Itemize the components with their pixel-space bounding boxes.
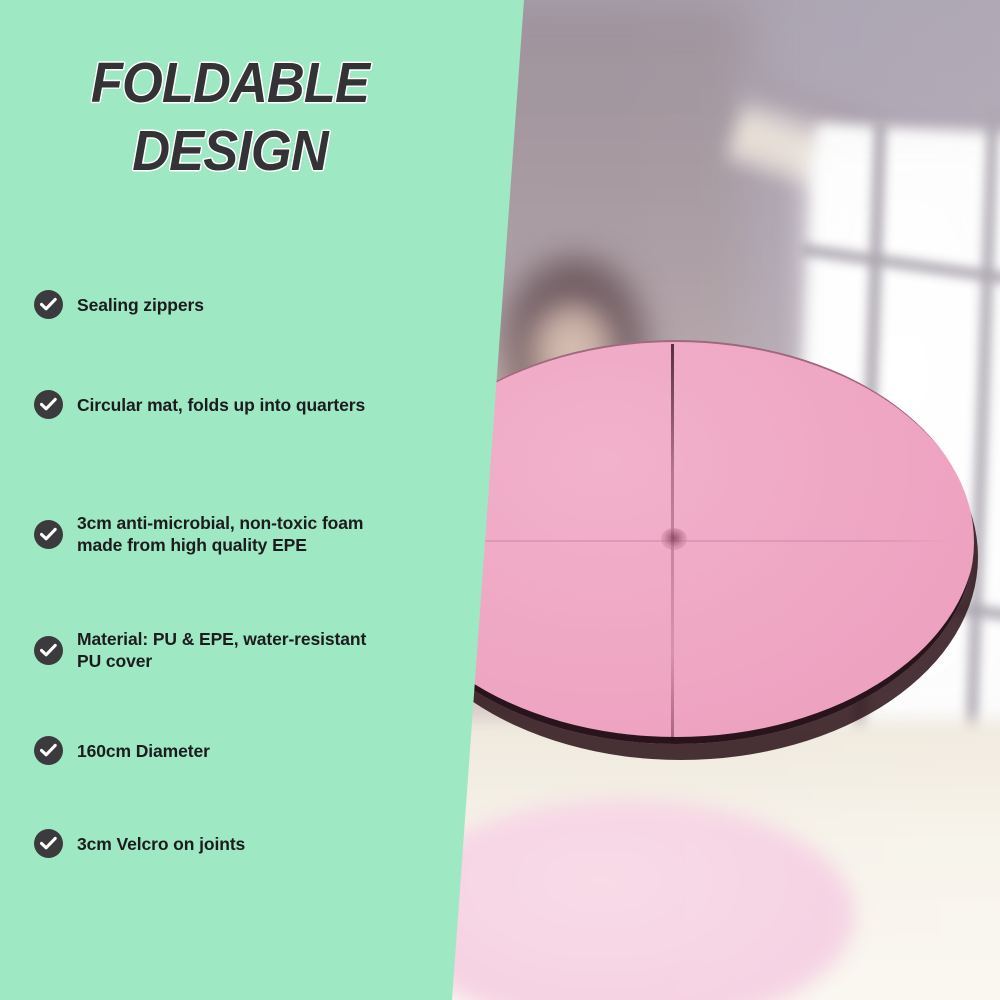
feature-label: 3cm Velcro on joints xyxy=(77,833,245,855)
check-circle-icon xyxy=(34,829,63,858)
list-item: 160cm Diameter xyxy=(34,736,379,765)
feature-label: Material: PU & EPE, water-resistant PU c… xyxy=(77,628,379,672)
check-circle-icon xyxy=(34,290,63,319)
check-circle-icon xyxy=(34,736,63,765)
feature-label: 160cm Diameter xyxy=(77,740,210,762)
list-item: 3cm anti-microbial, non-toxic foam made … xyxy=(34,512,379,556)
feature-label: Circular mat, folds up into quarters xyxy=(77,394,365,416)
list-item: Sealing zippers xyxy=(34,290,379,319)
check-circle-icon xyxy=(34,520,63,549)
list-item: Circular mat, folds up into quarters xyxy=(34,390,379,419)
feature-label: 3cm anti-microbial, non-toxic foam made … xyxy=(77,512,379,556)
feature-label: Sealing zippers xyxy=(77,294,204,316)
product-feature-poster: FOLDABLE DESIGN Sealing zippers Circular… xyxy=(0,0,1000,1000)
list-item: 3cm Velcro on joints xyxy=(34,829,379,858)
list-item: Material: PU & EPE, water-resistant PU c… xyxy=(34,628,379,672)
check-circle-icon xyxy=(34,390,63,419)
check-circle-icon xyxy=(34,636,63,665)
